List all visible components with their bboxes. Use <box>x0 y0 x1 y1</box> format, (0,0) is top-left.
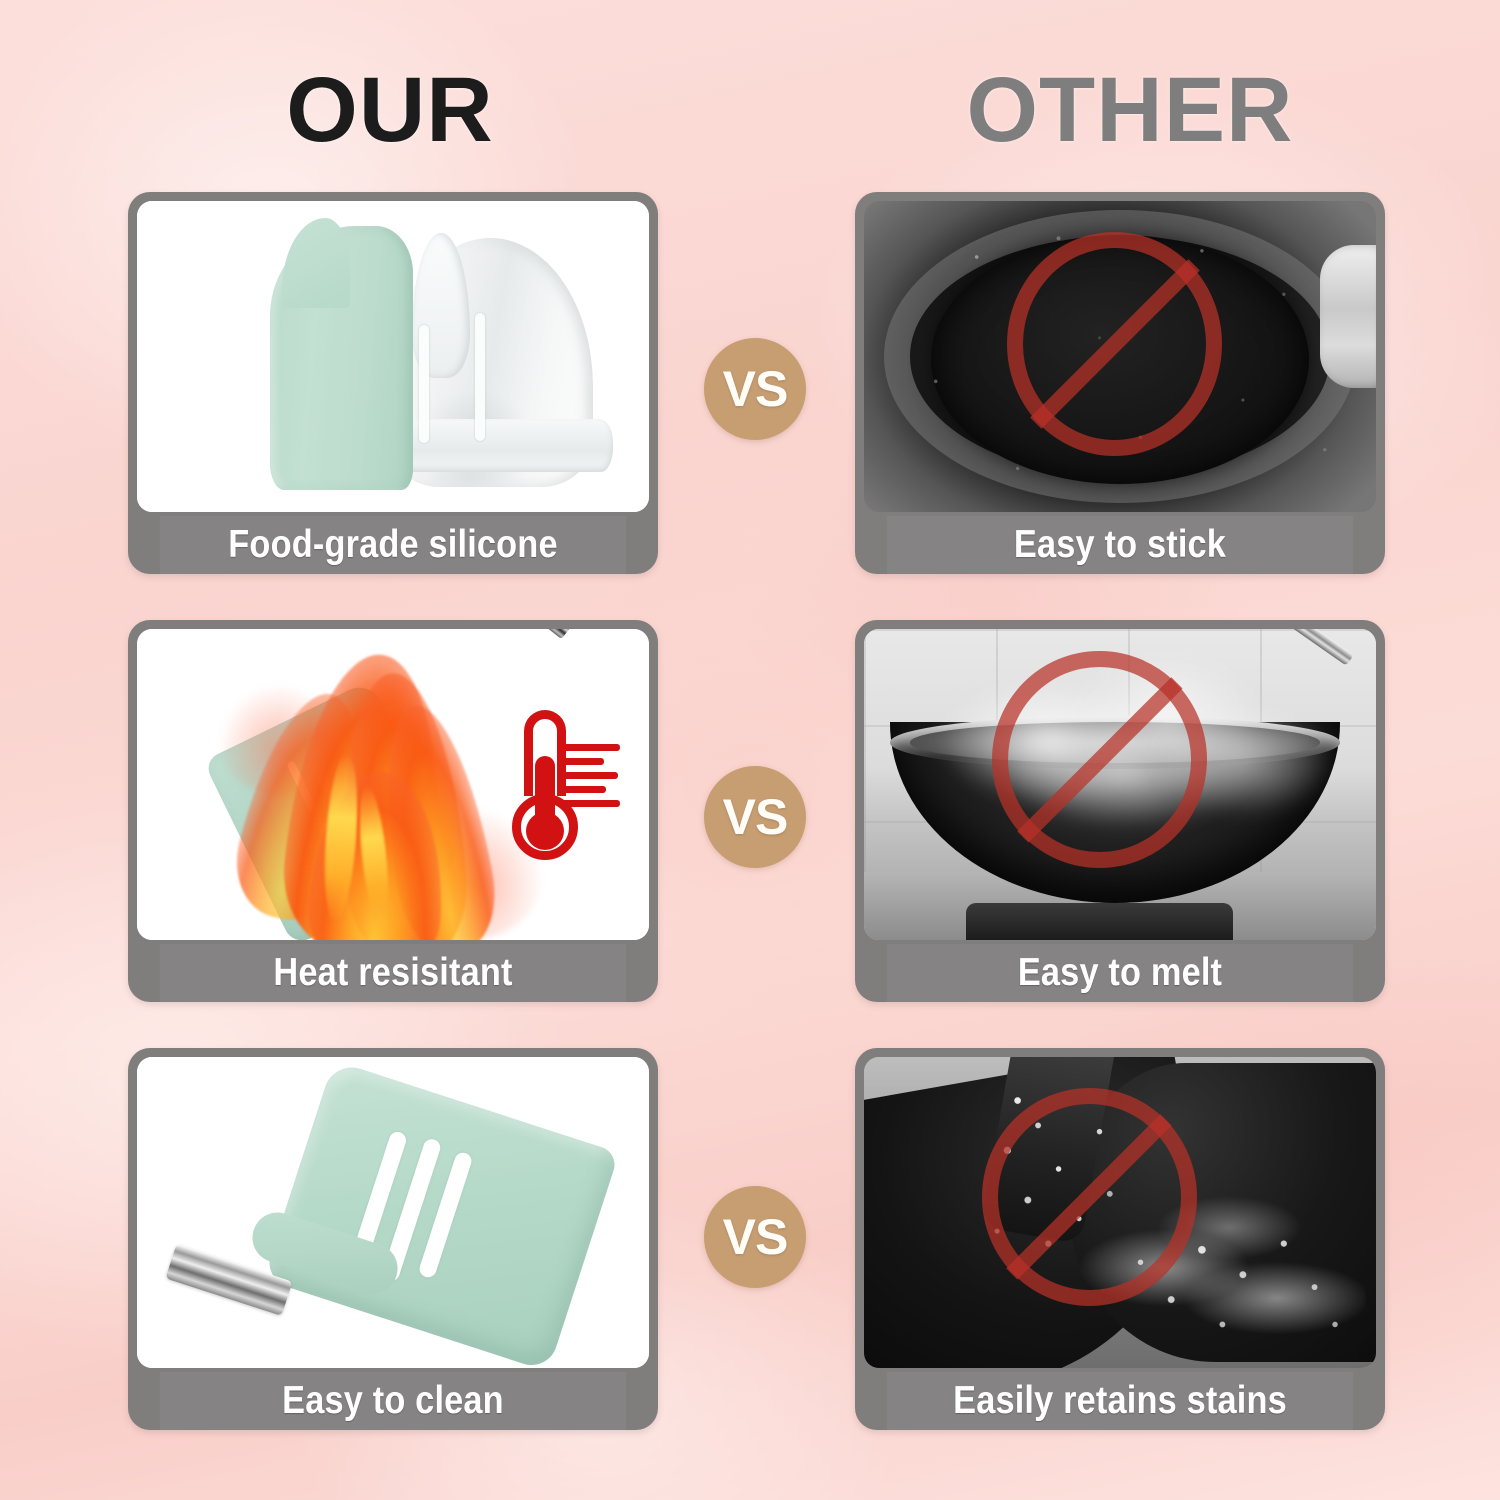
stove-burner <box>966 903 1232 940</box>
other-card-row-1: Easy to stick <box>855 192 1385 574</box>
mint-slotted-spatula-illustration <box>137 1057 649 1368</box>
other-photo-easy-to-melt <box>864 629 1376 940</box>
vs-badge-row-1: VS <box>704 338 806 440</box>
other-caption-row-1: Easy to stick <box>887 516 1353 574</box>
our-caption-row-2: Heat resisitant <box>160 944 626 1002</box>
vs-badge-row-2: VS <box>704 766 806 868</box>
blade-slot <box>419 325 429 443</box>
green-silicone-blade-shape <box>270 226 413 490</box>
steam-cloud <box>1151 704 1335 816</box>
our-caption-row-3: Easy to clean <box>160 1372 626 1430</box>
thermometer-icon <box>502 710 588 860</box>
other-card-row-3: Easily retains stains <box>855 1048 1385 1430</box>
food-crumbs-speckles <box>864 1057 1376 1368</box>
other-photo-easy-to-stick <box>864 201 1376 512</box>
our-card-row-2: Heat resisitant <box>128 620 658 1002</box>
smoking-wok-photo <box>864 629 1376 940</box>
black-skillet-photo <box>864 201 1376 512</box>
blade-slot <box>475 313 485 441</box>
our-photo-food-grade-silicone <box>137 201 649 512</box>
heat-lines-icon <box>558 744 622 814</box>
heading-other: OTHER <box>860 64 1400 156</box>
our-caption-row-1: Food-grade silicone <box>160 516 626 574</box>
our-card-row-1: Food-grade silicone <box>128 192 658 574</box>
vs-badge-row-3: VS <box>704 1186 806 1288</box>
steel-handle-shape <box>462 629 572 639</box>
heading-our: OUR <box>120 64 660 156</box>
other-card-row-2: Easy to melt <box>855 620 1385 1002</box>
hand-holding-handle <box>1320 245 1376 388</box>
other-photo-easily-retains-stains <box>864 1057 1376 1368</box>
other-caption-row-2: Easy to melt <box>887 944 1353 1002</box>
other-caption-row-3: Easily retains stains <box>887 1372 1353 1430</box>
comparison-infographic: OUR OTHER Food-grade silicone VS <box>0 0 1500 1500</box>
our-card-row-3: Easy to clean <box>128 1048 658 1430</box>
stained-wok-photo <box>864 1057 1376 1368</box>
our-photo-heat-resistant <box>137 629 649 940</box>
burning-spatula-illustration <box>137 629 649 940</box>
our-photo-easy-to-clean <box>137 1057 649 1368</box>
thermometer-mercury-bulb <box>526 812 564 850</box>
burnt-residue-speckles <box>864 201 1376 512</box>
silicone-nipple-illustration <box>137 201 649 512</box>
